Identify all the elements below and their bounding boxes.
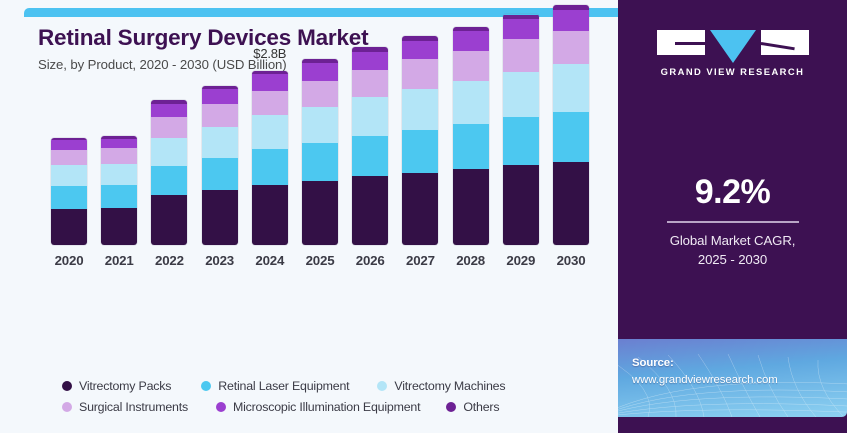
bar-segment	[453, 31, 489, 50]
bar-segment	[503, 19, 539, 40]
legend-item[interactable]: Surgical Instruments	[62, 400, 188, 414]
bar-segment	[553, 10, 589, 31]
logo-v-triangle-icon	[710, 30, 756, 63]
legend-swatch-icon	[62, 402, 72, 412]
legend-label: Vitrectomy Packs	[79, 379, 171, 393]
bar-segment	[51, 186, 87, 208]
bar-2025[interactable]	[302, 59, 338, 245]
bar-segment	[453, 124, 489, 169]
bar-segment	[553, 162, 589, 245]
brand-panel-inner: GRAND VIEW RESEARCH 9.2% Global Market C…	[618, 8, 847, 425]
legend-swatch-icon	[216, 402, 226, 412]
bar-segment	[302, 181, 338, 245]
x-axis-label-2024: 2024	[247, 253, 293, 268]
bar-segment	[252, 91, 288, 115]
bar-segment	[101, 208, 137, 245]
bar-2030[interactable]	[553, 5, 589, 246]
legend-item[interactable]: Vitrectomy Machines	[377, 379, 505, 393]
chart-panel: Retinal Surgery Devices Market Size, by …	[0, 0, 618, 433]
source-box: Source: www.grandviewresearch.com	[618, 339, 847, 417]
bar-segment	[252, 149, 288, 185]
x-axis-label-2028: 2028	[448, 253, 494, 268]
bar-segment	[302, 81, 338, 107]
bar-segment	[402, 130, 438, 173]
logo-wordmark: GRAND VIEW RESEARCH	[657, 66, 809, 77]
bar-segment	[202, 104, 238, 126]
x-axis-label-2029: 2029	[498, 253, 544, 268]
bar-2024[interactable]	[252, 71, 288, 245]
bar-segment	[352, 136, 388, 176]
legend-row-1: Vitrectomy PacksRetinal Laser EquipmentV…	[62, 375, 602, 396]
cagr-value: 9.2%	[618, 173, 847, 212]
bar-2028[interactable]	[453, 27, 489, 245]
legend-swatch-icon	[62, 381, 72, 391]
legend-swatch-icon	[377, 381, 387, 391]
logo-marks	[657, 30, 809, 57]
bar-2029[interactable]	[503, 14, 539, 245]
bar-2020[interactable]	[51, 138, 87, 245]
bar-segment	[302, 143, 338, 181]
bar-2021[interactable]	[101, 136, 137, 245]
chart-legend: Vitrectomy PacksRetinal Laser EquipmentV…	[62, 375, 602, 417]
bar-segment	[453, 169, 489, 245]
bar-segment	[151, 104, 187, 118]
stacked-bar-chart: 20202021202220232024$2.8B202520262027202…	[0, 0, 618, 340]
x-axis-label-2023: 2023	[197, 253, 243, 268]
source-url: www.grandviewresearch.com	[632, 372, 778, 389]
bar-segment	[101, 164, 137, 185]
bar-segment	[101, 139, 137, 149]
legend-label: Surgical Instruments	[79, 400, 188, 414]
bar-segment	[302, 63, 338, 80]
bar-segment	[402, 59, 438, 88]
logo-g-icon	[657, 30, 705, 55]
bar-segment	[402, 173, 438, 245]
x-axis-label-2027: 2027	[397, 253, 443, 268]
x-axis-label-2026: 2026	[347, 253, 393, 268]
bar-segment	[101, 148, 137, 164]
x-axis-label-2022: 2022	[146, 253, 192, 268]
bar-segment	[503, 165, 539, 245]
x-axis-label-2030: 2030	[548, 253, 594, 268]
bar-2023[interactable]	[202, 86, 238, 245]
divider	[667, 221, 799, 223]
legend-item[interactable]: Vitrectomy Packs	[62, 379, 171, 393]
bar-2026[interactable]	[352, 47, 388, 245]
x-axis-label-2025: 2025	[297, 253, 343, 268]
bar-segment	[151, 117, 187, 138]
bar-segment	[101, 185, 137, 208]
legend-row-2: Surgical InstrumentsMicroscopic Illumina…	[62, 396, 602, 417]
bar-segment	[252, 115, 288, 149]
bar-segment	[202, 127, 238, 158]
bar-2027[interactable]	[402, 36, 438, 245]
bar-segment	[151, 138, 187, 166]
cagr-caption-line1: Global Market CAGR,	[618, 231, 847, 250]
bar-segment	[352, 70, 388, 97]
legend-item[interactable]: Others	[446, 400, 499, 414]
legend-swatch-icon	[446, 402, 456, 412]
legend-label: Microscopic Illumination Equipment	[233, 400, 420, 414]
bar-segment	[553, 64, 589, 112]
x-axis-label-2020: 2020	[46, 253, 92, 268]
x-axis-label-2021: 2021	[96, 253, 142, 268]
bar-segment	[503, 72, 539, 117]
value-annotation: $2.8B	[235, 46, 305, 61]
legend-item[interactable]: Microscopic Illumination Equipment	[216, 400, 420, 414]
bar-segment	[352, 176, 388, 245]
logo-r-icon	[761, 30, 809, 55]
bar-segment	[352, 97, 388, 136]
bar-segment	[202, 89, 238, 104]
bar-segment	[503, 39, 539, 71]
bar-segment	[352, 52, 388, 70]
bar-2022[interactable]	[151, 100, 187, 245]
bar-segment	[51, 209, 87, 245]
bar-segment	[402, 41, 438, 60]
legend-item[interactable]: Retinal Laser Equipment	[201, 379, 349, 393]
source-label: Source:	[632, 355, 778, 372]
cagr-caption-line2: 2025 - 2030	[618, 250, 847, 269]
bar-segment	[252, 74, 288, 90]
bar-segment	[151, 166, 187, 195]
bar-segment	[302, 107, 338, 144]
cagr-stat-block: 9.2% Global Market CAGR, 2025 - 2030	[618, 173, 847, 269]
bar-segment	[151, 195, 187, 245]
bar-segment	[453, 81, 489, 124]
legend-label: Vitrectomy Machines	[394, 379, 505, 393]
brand-panel: GRAND VIEW RESEARCH 9.2% Global Market C…	[618, 0, 847, 433]
bar-segment	[553, 112, 589, 161]
legend-swatch-icon	[201, 381, 211, 391]
bar-segment	[51, 165, 87, 186]
bar-segment	[202, 190, 238, 245]
bar-segment	[503, 117, 539, 164]
bar-segment	[453, 51, 489, 82]
bar-segment	[202, 158, 238, 190]
bar-segment	[553, 31, 589, 65]
legend-label: Retinal Laser Equipment	[218, 379, 349, 393]
grand-view-research-logo: GRAND VIEW RESEARCH	[657, 30, 809, 77]
bar-segment	[252, 185, 288, 245]
bar-segment	[402, 89, 438, 130]
infographic-root: Retinal Surgery Devices Market Size, by …	[0, 0, 847, 433]
source-text: Source: www.grandviewresearch.com	[632, 355, 778, 389]
legend-label: Others	[463, 400, 499, 414]
bar-segment	[51, 150, 87, 165]
bar-segment	[51, 140, 87, 150]
